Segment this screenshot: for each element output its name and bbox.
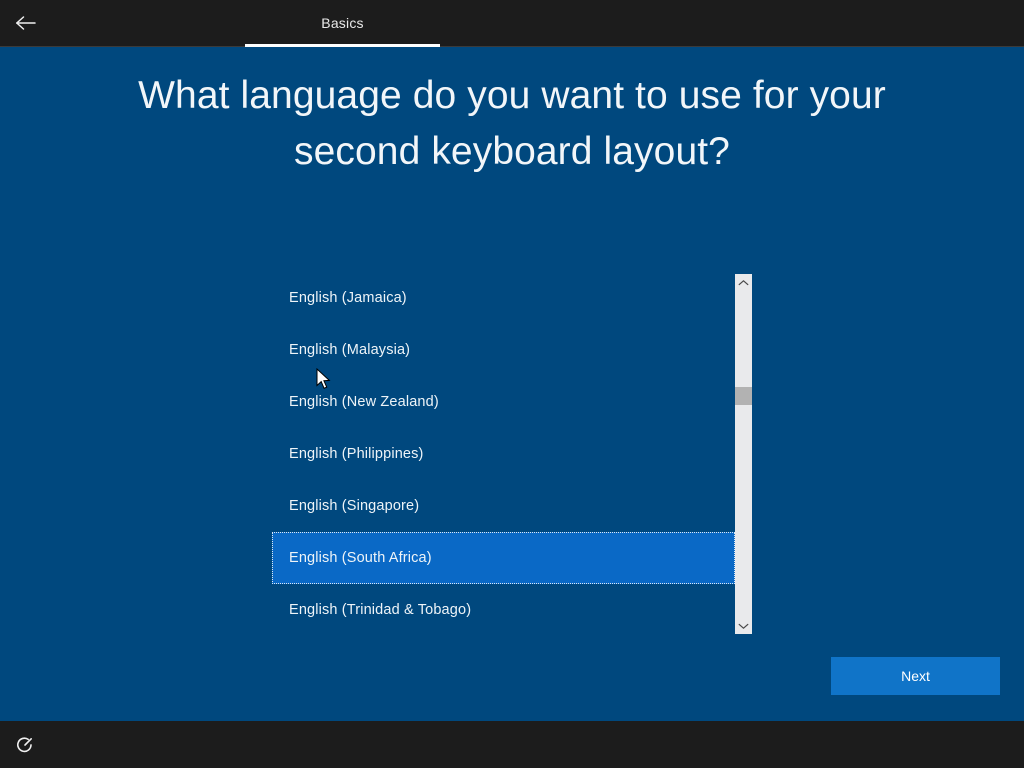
page-title: What language do you want to use for you… <box>92 68 932 180</box>
list-item[interactable]: English (Trinidad & Tobago) <box>272 584 735 634</box>
scrollbar-track[interactable] <box>735 291 752 617</box>
tab-active-indicator <box>245 44 440 47</box>
list-item-label: English (Singapore) <box>289 498 419 514</box>
list-item-label: English (Malaysia) <box>289 342 410 358</box>
list-item[interactable]: English (Malaysia) <box>272 324 735 376</box>
list-item-label: English (Trinidad & Tobago) <box>289 602 471 618</box>
list-item-label: English (New Zealand) <box>289 394 439 410</box>
top-chrome-bar: Basics <box>0 0 1024 47</box>
back-button[interactable] <box>6 6 46 40</box>
list-item-label: English (Jamaica) <box>289 290 407 306</box>
chevron-up-icon <box>738 279 749 287</box>
tab-basics[interactable]: Basics <box>245 0 440 46</box>
next-button-label: Next <box>901 668 930 684</box>
tab-basics-label: Basics <box>321 15 363 31</box>
list-item[interactable]: English (New Zealand) <box>272 376 735 428</box>
language-list[interactable]: English (Jamaica)English (Malaysia)Engli… <box>272 272 735 634</box>
list-item[interactable]: English (Singapore) <box>272 480 735 532</box>
language-list-container: English (Jamaica)English (Malaysia)Engli… <box>272 272 752 634</box>
bottom-chrome-bar <box>0 721 1024 768</box>
arrow-left-icon <box>14 14 38 32</box>
list-scrollbar[interactable] <box>735 274 752 634</box>
power-button[interactable] <box>10 731 40 759</box>
list-item[interactable]: English (Jamaica) <box>272 272 735 324</box>
list-item[interactable]: English (Philippines) <box>272 428 735 480</box>
chevron-down-icon <box>738 622 749 630</box>
next-button[interactable]: Next <box>831 657 1000 695</box>
oobe-screen: Basics What language do you want to use … <box>0 0 1024 768</box>
scrollbar-up-button[interactable] <box>735 274 752 291</box>
list-item-label: English (Philippines) <box>289 446 424 462</box>
scrollbar-thumb[interactable] <box>735 387 752 405</box>
power-icon <box>15 735 35 755</box>
scrollbar-down-button[interactable] <box>735 617 752 634</box>
list-item[interactable]: English (South Africa) <box>272 532 735 584</box>
list-item-label: English (South Africa) <box>289 550 432 566</box>
